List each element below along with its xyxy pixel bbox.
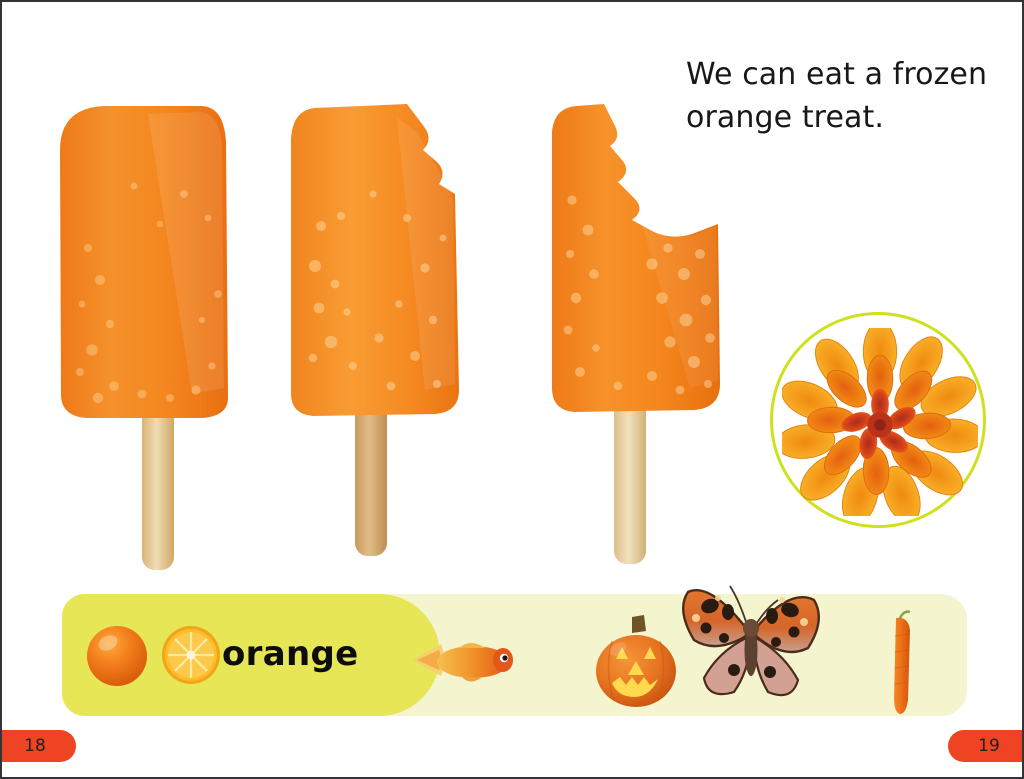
page-number-left: 18 (2, 730, 76, 762)
jack-o-lantern-icon (590, 611, 682, 709)
book-page-spread: We can eat a frozen orange treat. (0, 0, 1024, 779)
goldfish-icon (407, 634, 517, 686)
popsicle-stick (355, 398, 387, 556)
popsicle-two-bites (542, 98, 752, 576)
popsicle-stick (614, 392, 646, 564)
butterfly-icon (672, 566, 830, 716)
page-number-left-value: 18 (24, 736, 46, 756)
carrot-icon (882, 608, 922, 720)
dahlia-flower-icon (782, 328, 978, 516)
popsicle-one-bite (287, 98, 497, 576)
page-number-right-value: 19 (978, 736, 1000, 756)
flower-medallion (770, 312, 986, 528)
carrot-top (900, 612, 910, 618)
colour-word-label: orange (222, 634, 358, 674)
popsicle-stick (142, 398, 174, 570)
orange-fruit-whole-icon (84, 622, 150, 688)
colour-word-banner: orange (62, 594, 967, 716)
page-number-right: 19 (948, 730, 1022, 762)
orange-fruit-slice-icon (160, 624, 222, 686)
word-pill: orange (62, 594, 440, 716)
popsicle-whole (52, 98, 262, 576)
